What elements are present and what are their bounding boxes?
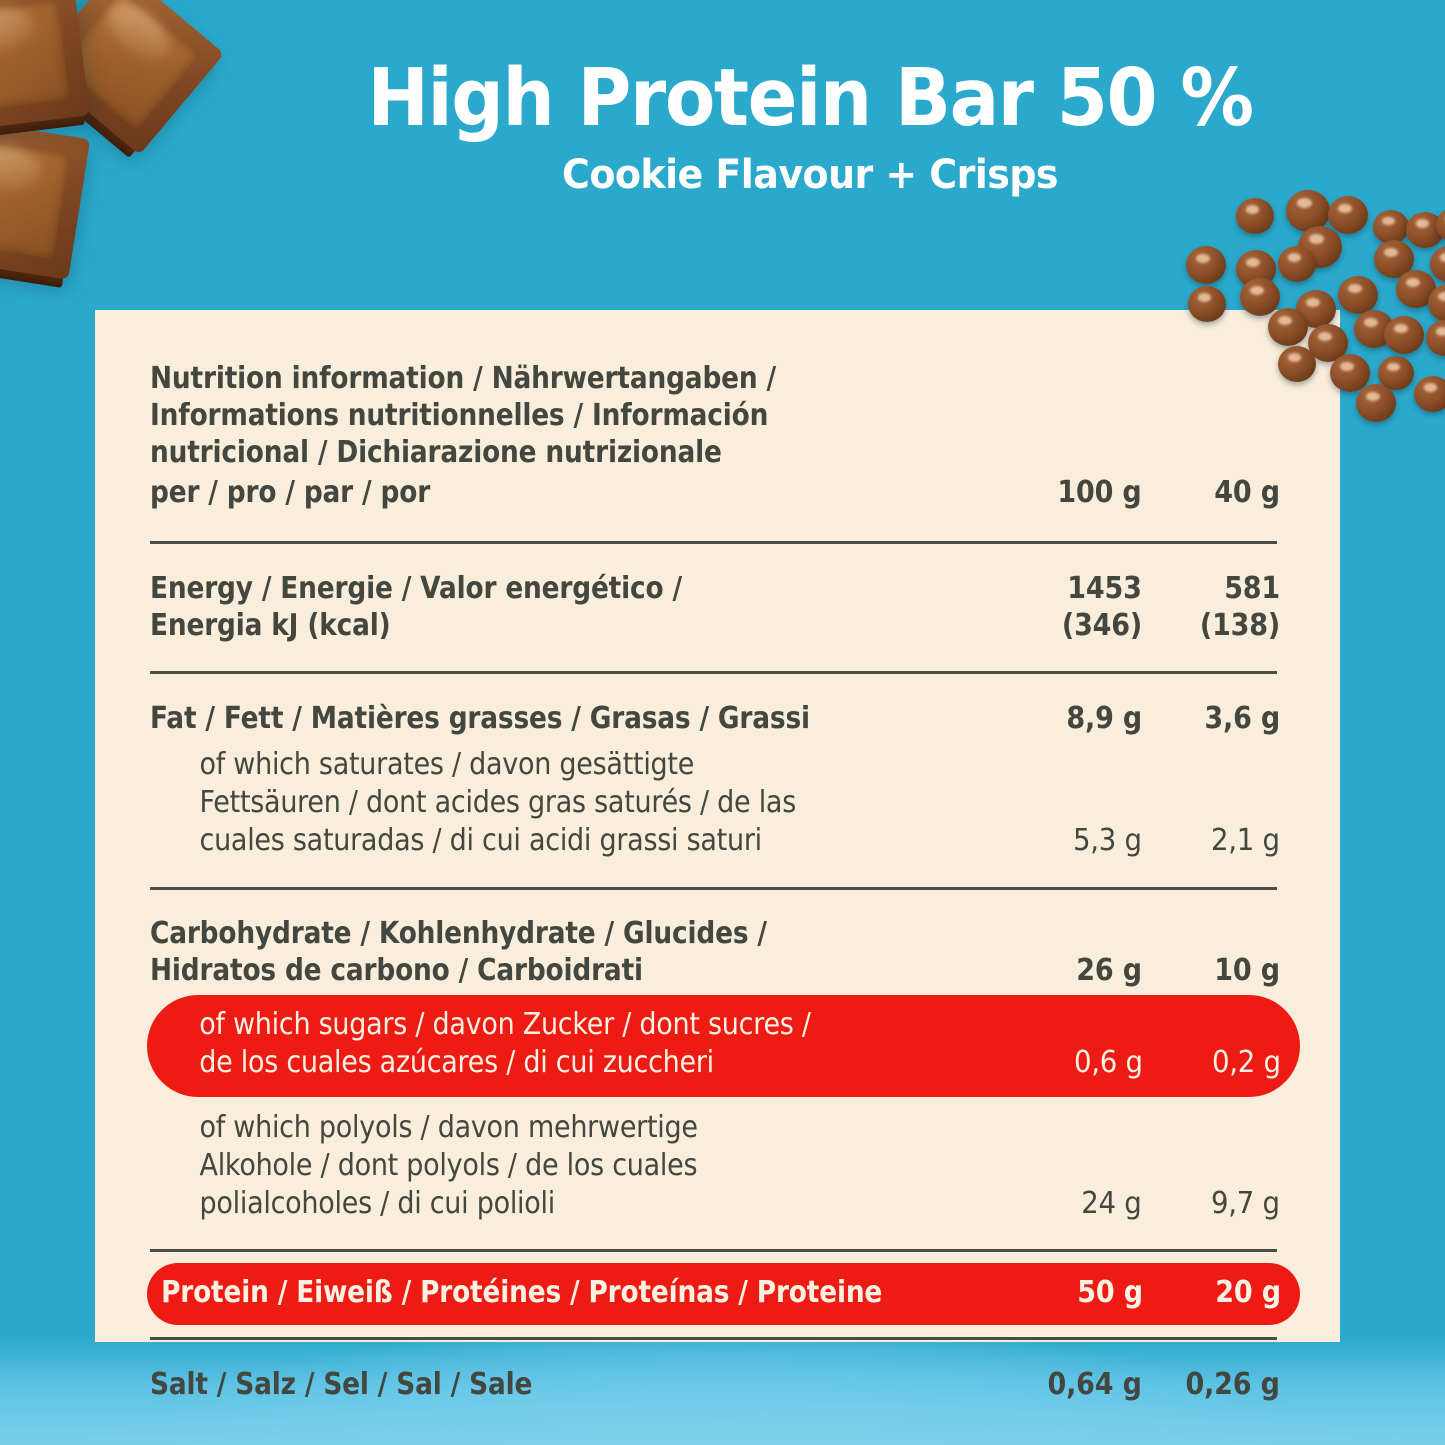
chocolate-crisp-ball — [1384, 316, 1424, 354]
header: High Protein Bar 50 % Cookie Flavour + C… — [255, 58, 1365, 197]
row-value-protein-100g: 50 g — [1011, 1274, 1143, 1311]
row-label-fat: Fat / Fett / Matières grasses / Grasas /… — [150, 700, 907, 737]
row-value-polyols-100g: 24 g — [1010, 1185, 1142, 1223]
chocolate-crisp-ball — [1236, 198, 1274, 234]
divider-after-carbohydrate — [150, 1249, 1277, 1252]
product-nutrition-infographic: High Protein Bar 50 % Cookie Flavour + C… — [0, 0, 1445, 1445]
chocolate-squares-icon — [0, 0, 272, 350]
divider-after-energy — [150, 671, 1277, 674]
row-label-saturates-line-2: Fettsäuren / dont acides gras saturés / … — [200, 784, 925, 822]
table-heading-row: Nutrition information / Nährwertangaben … — [150, 360, 1280, 471]
row-value-carbohydrate-100g: 26 g — [1010, 952, 1142, 989]
chocolate-crisp-ball — [1188, 286, 1226, 322]
nutrition-table: Nutrition information / Nährwertangaben … — [150, 360, 1280, 1403]
table-row-carbohydrate: Carbohydrate / Kohlenhydrate / Glucides … — [150, 915, 1280, 989]
nutrition-heading-line-1: Nutrition information / Nährwertangaben … — [150, 360, 1154, 397]
row-value-sugars-40g: 0,2 g — [1143, 1044, 1281, 1082]
chocolate-crisp-ball — [1186, 246, 1226, 284]
row-value-energy-100g: 1453 (346) — [1010, 570, 1142, 644]
row-value-polyols-40g: 9,7 g — [1142, 1185, 1280, 1223]
table-row-polyols: of which polyols / davon mehrwertige Alk… — [150, 1109, 1280, 1223]
per-serving-label: per / pro / par / por — [150, 474, 907, 511]
chocolate-crisp-ball — [1278, 246, 1316, 282]
row-label-polyols-line-2: Alkohole / dont polyols / de los cuales — [200, 1147, 925, 1185]
row-value-salt-40g: 0,26 g — [1142, 1366, 1280, 1403]
row-label-sugars-line-1: of which sugars / davon Zucker / dont su… — [199, 1006, 924, 1044]
nutrition-heading-line-2: Informations nutritionnelles / Informaci… — [150, 397, 1154, 434]
chocolate-crisp-ball — [1373, 210, 1409, 244]
nutrition-heading-line-3: nutricional / Dichiarazione nutrizionale — [150, 434, 1154, 471]
row-label-salt: Salt / Salz / Sel / Sal / Sale — [150, 1366, 907, 1403]
row-value-protein-40g: 20 g — [1143, 1274, 1281, 1311]
row-value-sugars-100g: 0,6 g — [1011, 1044, 1143, 1082]
column-header-100g: 100 g — [1010, 474, 1142, 511]
row-value-fat-40g: 3,6 g — [1142, 700, 1280, 737]
table-row-saturates: of which saturates / davon gesättigte Fe… — [150, 746, 1280, 860]
table-row-sugars-highlight: of which sugars / davon Zucker / dont su… — [147, 995, 1300, 1097]
chocolate-crisp-ball — [1338, 276, 1378, 314]
chocolate-crisp-ball — [1240, 278, 1280, 316]
chocolate-crisp-ball — [1278, 346, 1316, 382]
chocolate-crisp-ball — [1430, 246, 1445, 282]
row-value-fat-100g: 8,9 g — [1010, 700, 1142, 737]
divider-after-header — [150, 541, 1277, 544]
row-label-saturates-line-1: of which saturates / davon gesättigte — [200, 746, 925, 784]
divider-after-fat — [150, 887, 1277, 890]
row-value-saturates-40g: 2,1 g — [1142, 822, 1280, 860]
chocolate-crisp-ball — [1268, 308, 1308, 346]
chocolate-crisp-ball — [1356, 384, 1396, 422]
table-row-fat: Fat / Fett / Matières grasses / Grasas /… — [150, 700, 1280, 737]
row-label-carbohydrate-line-1: Carbohydrate / Kohlenhydrate / Glucides … — [150, 915, 907, 952]
row-label-sugars-line-2: de los cuales azúcares / di cui zuccheri — [199, 1044, 924, 1082]
table-row-protein-highlight: Protein / Eiweiß / Protéines / Proteínas… — [147, 1263, 1300, 1325]
chocolate-crisp-ball — [1414, 376, 1445, 412]
row-value-salt-100g: 0,64 g — [1010, 1366, 1142, 1403]
row-label-carbohydrate-line-2: Hidratos de carbono / Carboidrati — [150, 952, 907, 989]
divider-after-protein — [150, 1337, 1277, 1340]
row-label-protein: Protein / Eiweiß / Protéines / Proteínas… — [147, 1274, 907, 1311]
row-value-carbohydrate-40g: 10 g — [1142, 952, 1280, 989]
row-label-energy-line-2: Energia kJ (kcal) — [150, 607, 907, 644]
row-label-energy-line-1: Energy / Energie / Valor energético / — [150, 570, 907, 607]
row-label-saturates-line-3: cuales saturadas / di cui acidi grassi s… — [200, 822, 925, 860]
chocolate-crisp-ball — [1426, 320, 1445, 356]
page-title: High Protein Bar 50 % — [294, 58, 1326, 139]
table-column-header-row: per / pro / par / por 100 g 40 g — [150, 474, 1280, 511]
table-row-salt: Salt / Salz / Sel / Sal / Sale 0,64 g 0,… — [150, 1366, 1280, 1403]
row-value-saturates-100g: 5,3 g — [1010, 822, 1142, 860]
row-label-polyols-line-3: polialcoholes / di cui polioli — [200, 1185, 925, 1223]
row-value-energy-40g: 581 (138) — [1142, 570, 1280, 644]
table-row-energy: Energy / Energie / Valor energético / En… — [150, 570, 1280, 644]
column-header-40g: 40 g — [1142, 474, 1280, 511]
chocolate-crisp-ball — [1328, 196, 1368, 234]
row-label-polyols-line-1: of which polyols / davon mehrwertige — [200, 1109, 925, 1147]
